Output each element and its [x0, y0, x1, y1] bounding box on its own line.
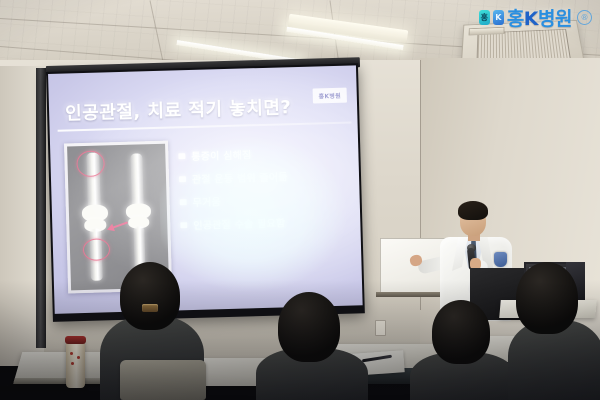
list-item: 인공관절 수술 필요함	[180, 213, 350, 233]
bullet-marker-icon	[180, 199, 187, 205]
wall-outlet	[375, 320, 386, 336]
slide-corner-logo-label: 홍K병원	[313, 88, 347, 104]
list-item: 통증이 심해짐	[178, 144, 348, 164]
bullet-marker-icon	[178, 153, 185, 159]
bullet-label: 통증이 심해짐	[191, 146, 251, 163]
slide-title: 인공관절, 치료 적기 놓치면?	[65, 92, 336, 126]
ac-vane	[468, 27, 504, 36]
bullet-label: 관절 운동 범위 줄어듦	[192, 168, 288, 186]
tumbler-dot	[71, 362, 74, 365]
bullet-label: 인공관절 수술 필요함	[193, 214, 285, 232]
tumbler-dot	[77, 356, 80, 359]
audience-head	[432, 300, 490, 364]
slide-corner-logo: 홍K병원	[313, 88, 347, 104]
presenter-hair	[458, 201, 488, 220]
bullet-marker-icon	[180, 222, 187, 228]
door-frame	[36, 68, 46, 348]
chair-back	[120, 360, 206, 400]
xray-femur-right	[130, 153, 144, 209]
list-item: 무거움	[179, 190, 349, 210]
hair-clip	[142, 304, 158, 312]
presenter-shoulder-patch	[494, 252, 507, 267]
bullet-marker-icon	[179, 176, 186, 182]
audience-head	[120, 262, 180, 330]
audience-member	[508, 262, 600, 400]
bullet-label: 무거움	[192, 193, 221, 209]
tumbler	[66, 340, 85, 388]
audience-member	[256, 292, 370, 400]
tumbler-dot	[70, 352, 73, 355]
audience-head	[278, 292, 340, 362]
slide-bullet-list: 통증이 심해짐 관절 운동 범위 줄어듦 무거움 인공관절 수술 필요함	[178, 144, 351, 241]
audience-member	[410, 300, 518, 400]
lecture-room-photo: 인공관절, 치료 적기 놓치면? 홍K병원	[0, 0, 600, 400]
list-item: 관절 운동 범위 줄어듦	[179, 167, 349, 187]
tumbler-lid	[65, 336, 86, 344]
audience-head	[516, 262, 578, 334]
